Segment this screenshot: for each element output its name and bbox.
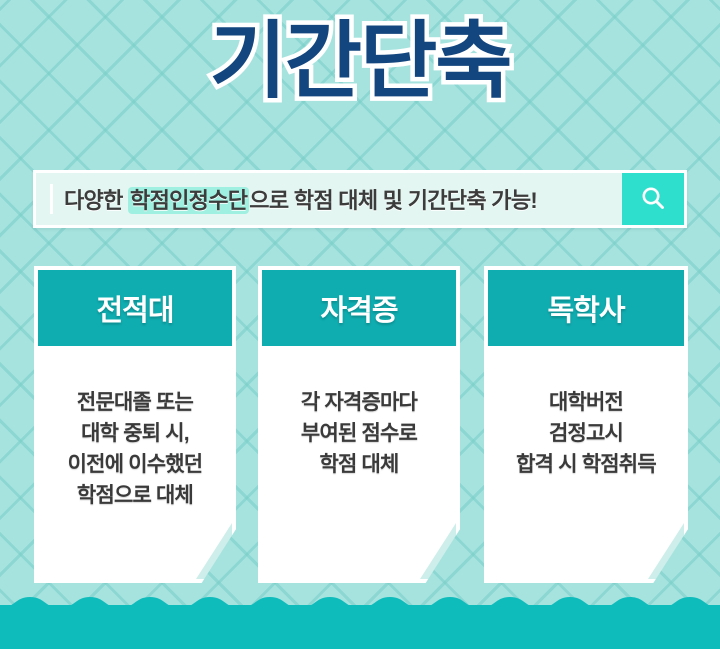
page-title-area: 기간단축 — [0, 14, 720, 108]
card-body: 대학버전 검정고시 합격 시 학점취득 — [488, 346, 684, 579]
search-input[interactable]: 다양한 학점인정수단으로 학점 대체 및 기간단축 가능! — [36, 173, 622, 225]
search-text-after: 으로 학점 대체 및 기간단축 가능! — [249, 188, 537, 213]
card-header: 전적대 — [38, 270, 232, 346]
card-list: 전적대 전문대졸 또는 대학 중퇴 시, 이전에 이수했던 학점으로 대체 자격… — [0, 266, 720, 586]
card-jeonjeokdae[interactable]: 전적대 전문대졸 또는 대학 중퇴 시, 이전에 이수했던 학점으로 대체 — [34, 266, 236, 583]
page-title: 기간단축 — [209, 14, 510, 108]
card-body-text: 대학버전 검정고시 합격 시 학점취득 — [516, 388, 656, 481]
search-text-before: 다양한 — [64, 188, 128, 213]
card-dokhaksa[interactable]: 독학사 대학버전 검정고시 합격 시 학점취득 — [484, 266, 688, 583]
wave-crest — [0, 594, 720, 616]
card-body: 각 자격증마다 부여된 점수로 학점 대체 — [262, 346, 456, 579]
card-body: 전문대졸 또는 대학 중퇴 시, 이전에 이수했던 학점으로 대체 — [38, 346, 232, 579]
card-header-label: 독학사 — [547, 287, 624, 329]
card-header: 독학사 — [488, 270, 684, 346]
text-cursor — [50, 184, 53, 214]
search-input-value: 다양한 학점인정수단으로 학점 대체 및 기간단축 가능! — [64, 183, 537, 215]
card-header: 자격증 — [262, 270, 456, 346]
card-header-label: 전적대 — [96, 287, 173, 329]
card-body-text: 전문대졸 또는 대학 중퇴 시, 이전에 이수했던 학점으로 대체 — [68, 388, 203, 511]
promo-banner: 기간단축 다양한 학점인정수단으로 학점 대체 및 기간단축 가능! 전적대 전… — [0, 0, 720, 649]
search-icon — [638, 184, 668, 214]
search-bar[interactable]: 다양한 학점인정수단으로 학점 대체 및 기간단축 가능! — [33, 170, 687, 228]
card-header-label: 자격증 — [320, 287, 397, 329]
card-body-text: 각 자격증마다 부여된 점수로 학점 대체 — [301, 388, 417, 481]
search-button[interactable] — [622, 173, 684, 225]
search-text-highlight: 학점인정수단 — [128, 187, 249, 214]
card-jagyeokjeung[interactable]: 자격증 각 자격증마다 부여된 점수로 학점 대체 — [258, 266, 460, 583]
bottom-wave-band — [0, 605, 720, 649]
